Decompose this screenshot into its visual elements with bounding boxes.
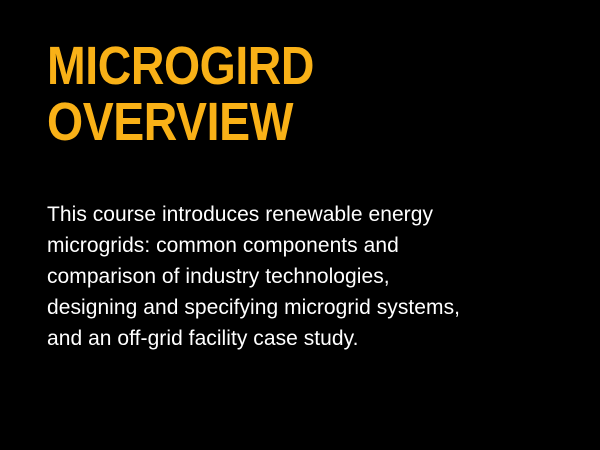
description-line-5: and an off-grid facility case study. <box>47 323 567 354</box>
description-line-3: comparison of industry technologies, <box>47 261 567 292</box>
slide-canvas: MICROGIRD OVERVIEW This course introduce… <box>0 0 600 450</box>
course-description: This course introduces renewable energy … <box>47 199 567 354</box>
title-line-2: OVERVIEW <box>47 94 494 150</box>
title-line-1: MICROGIRD <box>47 38 494 94</box>
description-line-2: microgrids: common components and <box>47 230 567 261</box>
description-line-1: This course introduces renewable energy <box>47 199 567 230</box>
slide-content: MICROGIRD OVERVIEW This course introduce… <box>47 38 567 354</box>
description-line-4: designing and specifying microgrid syste… <box>47 292 567 323</box>
page-title: MICROGIRD OVERVIEW <box>47 38 567 150</box>
